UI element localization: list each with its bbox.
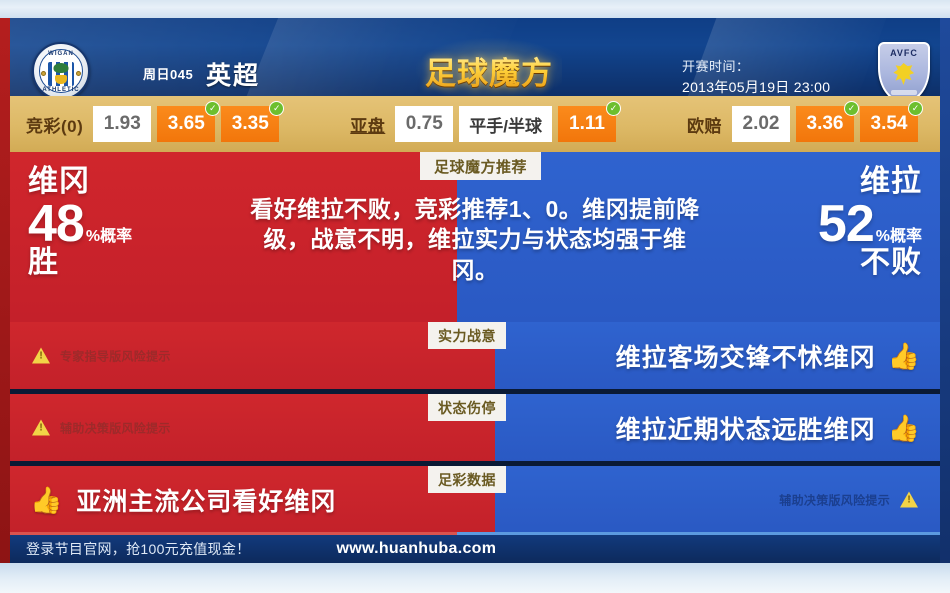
analysis-row-form: 状态伤停 辅助决策版风险提示 维拉近期状态远胜维冈 👍 xyxy=(10,394,940,461)
odds-value: 1.11 xyxy=(569,113,605,135)
warning-icon xyxy=(32,348,50,364)
odds-group-jingcai: 竞彩(0) 1.93 3.65 ✓ 3.35 ✓ xyxy=(26,106,285,142)
footer-bar: 登录节目官网，抢100元充值现金！ www.huanhuba.com xyxy=(10,535,940,563)
check-icon: ✓ xyxy=(205,101,220,116)
villa-shield-text: AVFC xyxy=(878,48,930,58)
home-percent-suffix: %概率 xyxy=(86,222,132,246)
home-risk-notice: 辅助决策版风险提示 xyxy=(32,419,171,436)
crest-dot-left xyxy=(41,71,46,76)
row-tab-form: 状态伤停 xyxy=(428,394,506,421)
away-probability-block: 维拉 52 %概率 不败 xyxy=(742,166,922,278)
thumbs-up-icon: 👍 xyxy=(888,415,920,441)
odds-cell-jingcai-3[interactable]: 3.35 ✓ xyxy=(221,106,279,142)
odds-value: 3.35 xyxy=(232,113,269,135)
home-percent-value: 48 xyxy=(28,200,84,249)
away-claim-strength: 维拉客场交锋不怵维冈 👍 xyxy=(616,338,920,374)
away-percent-value: 52 xyxy=(818,200,874,249)
odds-group-yapan: 亚盘 0.75 平手/半球 1.11 ✓ xyxy=(350,106,622,142)
home-risk-notice: 专家指导版风险提示 xyxy=(32,347,171,364)
footer-site-url[interactable]: www.huanhuba.com xyxy=(336,540,496,558)
odds-value: 3.36 xyxy=(807,113,844,135)
odds-label-jingcai: 竞彩(0) xyxy=(26,112,83,137)
analysis-row-betting-data: 足彩数据 👍 亚洲主流公司看好维冈 辅助决策版风险提示 xyxy=(10,466,940,533)
right-accent-rail xyxy=(940,18,950,563)
check-icon: ✓ xyxy=(908,101,923,116)
warning-icon xyxy=(32,420,50,436)
away-claim-form: 维拉近期状态远胜维冈 👍 xyxy=(616,410,920,446)
odds-cell-oupei-2[interactable]: 3.36 ✓ xyxy=(796,106,854,142)
kickoff-time: 2013年05月19日 23:00 xyxy=(682,77,830,96)
home-percent-row: 48 %概率 xyxy=(28,200,208,249)
bottom-background-strip xyxy=(0,563,950,593)
brand-logo: 足球魔方 xyxy=(424,46,554,94)
odds-cell-jingcai-2[interactable]: 3.65 ✓ xyxy=(157,106,215,142)
poster-root: WIGAN ATHLETIC 周日045 英超 足球魔方 开赛时间： 2013年… xyxy=(0,0,950,593)
away-percent-suffix: %概率 xyxy=(876,222,922,246)
row-tab-betting-data: 足彩数据 xyxy=(428,466,506,493)
odds-group-oupei: 欧赔 2.02 3.36 ✓ 3.54 ✓ xyxy=(687,106,924,142)
odds-cell-oupei-3[interactable]: 3.54 ✓ xyxy=(860,106,918,142)
thumbs-up-icon: 👍 xyxy=(30,487,62,513)
odds-cell-jingcai-1[interactable]: 1.93 xyxy=(93,106,151,142)
odds-cell-yapan-handicap[interactable]: 0.75 xyxy=(395,106,453,142)
row-tab-strength: 实力战意 xyxy=(428,322,506,349)
check-icon: ✓ xyxy=(269,101,284,116)
villa-shield-base xyxy=(891,90,917,95)
odds-cell-oupei-1[interactable]: 2.02 xyxy=(732,106,790,142)
crest-top-text: WIGAN xyxy=(34,51,88,57)
kickoff-label: 开赛时间： xyxy=(682,56,750,75)
home-team-name: 维冈 xyxy=(28,166,208,198)
aston-villa-crest-icon: AVFC xyxy=(878,42,930,96)
odds-cell-yapan-line[interactable]: 平手/半球 xyxy=(459,106,552,142)
crest-tree xyxy=(54,63,69,73)
analysis-rows: 实力战意 专家指导版风险提示 维拉客场交锋不怵维冈 👍 状态伤停 辅助决策版风险… xyxy=(10,322,940,535)
check-icon: ✓ xyxy=(606,101,621,116)
odds-bar: 竞彩(0) 1.93 3.65 ✓ 3.35 ✓ 亚盘 0.75 平手/半球 1… xyxy=(10,96,940,152)
top-background-strip xyxy=(0,0,950,18)
home-risk-text: 辅助决策版风险提示 xyxy=(60,419,171,436)
odds-value: 3.54 xyxy=(871,113,908,135)
home-claim-text: 亚洲主流公司看好维冈 xyxy=(76,482,336,518)
home-outcome-label: 胜 xyxy=(28,247,208,279)
away-claim-text: 维拉客场交锋不怵维冈 xyxy=(616,338,876,374)
crest-dot-right xyxy=(76,71,81,76)
brand-logo-text: 足球魔方 xyxy=(425,48,553,93)
away-risk-text: 辅助决策版风险提示 xyxy=(779,491,890,508)
away-team-name: 维拉 xyxy=(742,166,922,198)
wigan-athletic-crest-icon: WIGAN ATHLETIC xyxy=(32,42,90,96)
match-header: WIGAN ATHLETIC 周日045 英超 足球魔方 开赛时间： 2013年… xyxy=(10,18,940,96)
analysis-row-strength: 实力战意 专家指导版风险提示 维拉客场交锋不怵维冈 👍 xyxy=(10,322,940,389)
home-risk-text: 专家指导版风险提示 xyxy=(60,347,171,364)
match-round-label: 周日045 xyxy=(143,64,193,83)
footer-promo-text: 登录节目官网，抢100元充值现金！ xyxy=(26,539,250,559)
left-accent-rail xyxy=(0,18,10,563)
prediction-hero: 足球魔方推荐 维冈 48 %概率 胜 维拉 52 %概率 不败 看好维拉不败，竞… xyxy=(10,152,940,322)
hero-tab-label: 足球魔方推荐 xyxy=(420,152,541,180)
home-claim-betting: 👍 亚洲主流公司看好维冈 xyxy=(30,482,336,518)
thumbs-up-icon: 👍 xyxy=(888,343,920,369)
away-claim-text: 维拉近期状态远胜维冈 xyxy=(616,410,876,446)
league-name: 英超 xyxy=(206,56,260,92)
crest-bottom-text: ATHLETIC xyxy=(34,87,88,93)
odds-label-oupei: 欧赔 xyxy=(687,112,722,137)
away-risk-notice: 辅助决策版风险提示 xyxy=(779,491,918,508)
away-percent-row: 52 %概率 xyxy=(742,200,922,249)
odds-cell-yapan-odds[interactable]: 1.11 ✓ xyxy=(558,106,616,142)
warning-icon xyxy=(900,492,918,508)
recommendation-text: 看好维拉不败，竞彩推荐1、0。维冈提前降级，战意不明，维拉实力与状态均强于维冈。 xyxy=(246,194,704,285)
odds-value: 3.65 xyxy=(168,113,205,135)
crest-cup xyxy=(55,75,67,84)
home-probability-block: 维冈 48 %概率 胜 xyxy=(28,166,208,278)
check-icon: ✓ xyxy=(844,101,859,116)
odds-label-yapan: 亚盘 xyxy=(350,112,385,137)
